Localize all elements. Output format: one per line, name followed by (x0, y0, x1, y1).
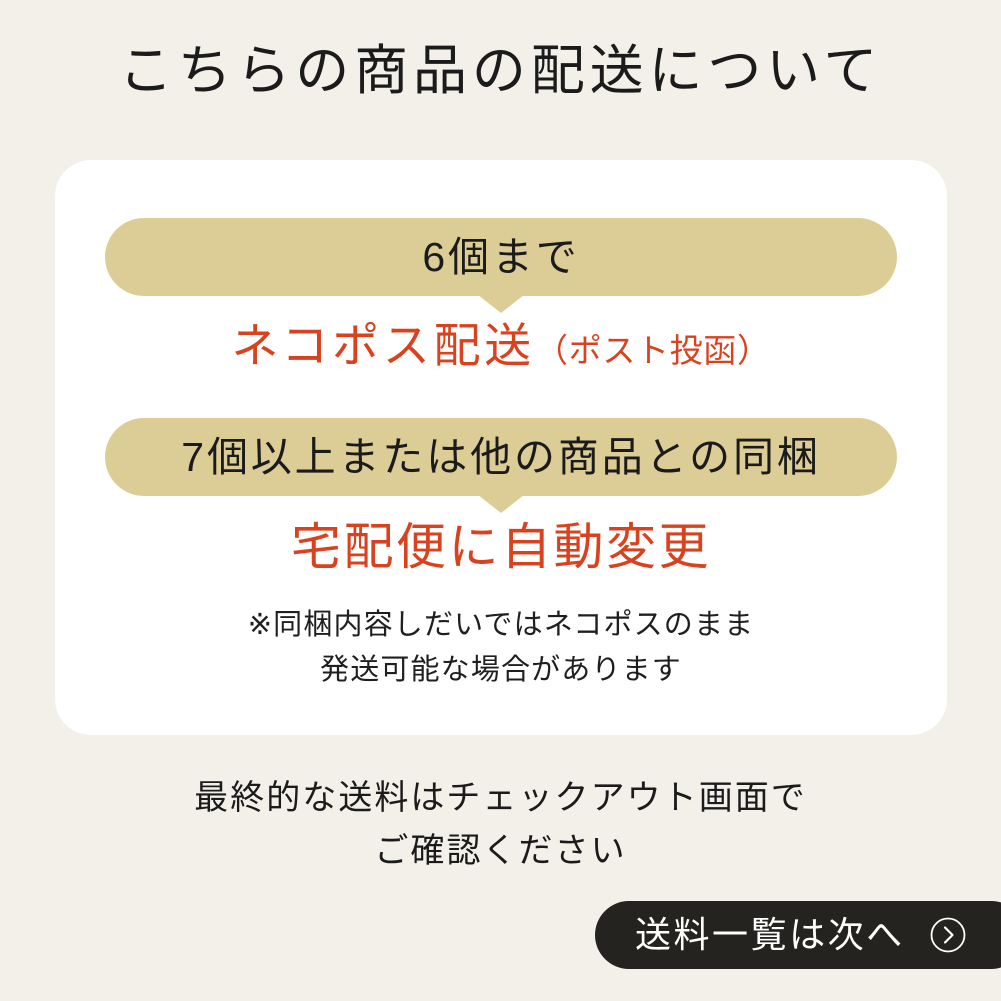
checkout-footnote: 最終的な送料はチェックアウト画面で ご確認ください (0, 772, 1001, 877)
chevron-right-circle-icon (929, 916, 967, 954)
checkout-footnote-line-1: 最終的な送料はチェックアウト画面で (0, 772, 1001, 825)
rule-result-2: 宅配便に自動変更 (55, 522, 947, 572)
shipping-rules-card: 6個まで ネコポス配送（ポスト投函） 7個以上または他の商品との同梱 宅配便に自… (55, 160, 947, 735)
rule-result-sub-1: （ポスト投函） (535, 332, 771, 369)
next-shipping-rates-button[interactable]: 送料一覧は次へ (595, 901, 1001, 969)
card-note-line-1: ※同梱内容しだいではネコポスのまま (55, 603, 947, 648)
checkout-footnote-line-2: ご確認ください (0, 825, 1001, 878)
next-shipping-rates-label: 送料一覧は次へ (635, 917, 905, 953)
rule-condition-badge-2: 7個以上または他の商品との同梱 (105, 418, 897, 496)
page-title: こちらの商品の配送について (0, 42, 1001, 101)
rule-condition-label-1: 6個まで (422, 237, 579, 278)
rule-result-main-2: 宅配便に自動変更 (291, 519, 711, 575)
rule-result-main-1: ネコポス配送 (231, 319, 535, 372)
rule-condition-badge-1: 6個まで (105, 218, 897, 296)
rule-result-1: ネコポス配送（ポスト投函） (55, 322, 947, 369)
card-note-line-2: 発送可能な場合があります (55, 648, 947, 693)
rule-condition-label-2: 7個以上または他の商品との同梱 (181, 437, 820, 478)
card-note: ※同梱内容しだいではネコポスのまま 発送可能な場合があります (55, 603, 947, 693)
shipping-info-infographic: こちらの商品の配送について 6個まで ネコポス配送（ポスト投函） 7個以上または… (0, 0, 1001, 1001)
